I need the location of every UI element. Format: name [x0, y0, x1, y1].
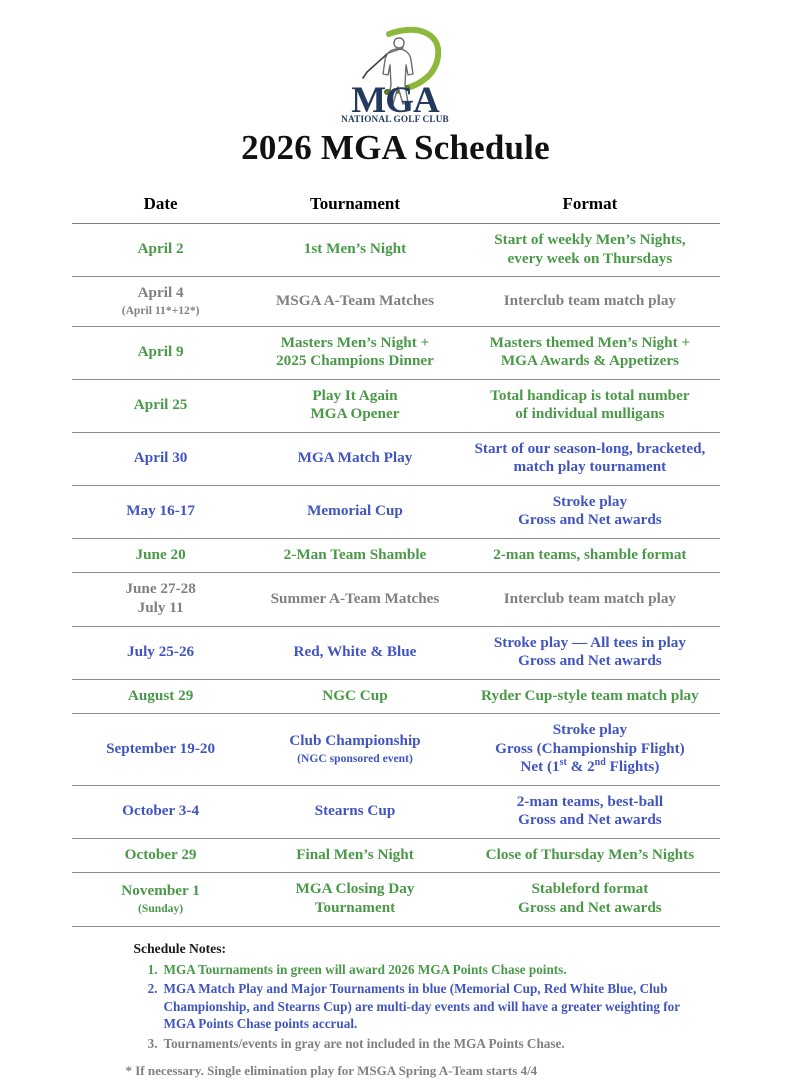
cell-format: Start of weekly Men’s Nights, every week… — [460, 224, 719, 277]
tournament-line-2: Tournament — [255, 899, 456, 918]
format-line-1: Masters themed Men’s Night + — [465, 334, 714, 353]
cell-date: April 25 — [72, 379, 250, 432]
date-text: April 30 — [134, 449, 188, 466]
tournament-text: MSGA A-Team Matches — [276, 292, 434, 309]
cell-format: Masters themed Men’s Night + MGA Awards … — [460, 326, 719, 379]
tournament-text: Final Men’s Night — [296, 846, 414, 863]
schedule-table: Date Tournament Format April 2 1st Men’s… — [72, 194, 720, 927]
table-header-row: Date Tournament Format — [72, 194, 720, 224]
format-line-3-post: Flights) — [606, 758, 660, 775]
ordinal-suffix-second: nd — [595, 757, 606, 768]
list-item: MGA Match Play and Major Tournaments in … — [160, 980, 706, 1033]
cell-format: 2-man teams, best-ball Gross and Net awa… — [460, 785, 719, 838]
cell-tournament: Memorial Cup — [250, 485, 461, 538]
tournament-text: 2-Man Team Shamble — [284, 546, 427, 563]
date-text: August 29 — [128, 687, 193, 704]
format-line-1: Stroke play — [465, 721, 714, 740]
cell-date: October 3-4 — [72, 785, 250, 838]
format-line-1: Stroke play — [465, 493, 714, 512]
table-row: April 30 MGA Match Play Start of our sea… — [72, 432, 720, 485]
cell-format: Stableford format Gross and Net awards — [460, 873, 719, 926]
column-header-date: Date — [72, 194, 250, 224]
date-text: September 19-20 — [106, 740, 215, 757]
tournament-text: 1st Men’s Night — [304, 240, 406, 257]
format-line-2: Gross (Championship Flight) — [465, 740, 714, 759]
tournament-text: NGC Cup — [322, 687, 387, 704]
notes-list: MGA Tournaments in green will award 2026… — [134, 961, 706, 1053]
format-line-2: Gross and Net awards — [465, 811, 714, 830]
schedule-notes-section: Schedule Notes: MGA Tournaments in green… — [86, 941, 706, 1053]
date-text: November 1 — [121, 882, 200, 899]
format-line-1: Interclub team match play — [465, 590, 714, 609]
cell-format: Start of our season-long, bracketed, mat… — [460, 432, 719, 485]
tournament-line-1: Masters Men’s Night + — [255, 334, 456, 353]
format-line-2: Gross and Net awards — [465, 899, 714, 918]
cell-format: Total handicap is total number of indivi… — [460, 379, 719, 432]
table-row: September 19-20 Club Championship (NGC s… — [72, 714, 720, 786]
cell-date: April 4 (April 11*+12*) — [72, 277, 250, 326]
date-text: April 25 — [134, 396, 188, 413]
cell-tournament: Club Championship (NGC sponsored event) — [250, 714, 461, 786]
table-row: July 25-26 Red, White & Blue Stroke play… — [72, 626, 720, 679]
cell-date: June 20 — [72, 538, 250, 573]
cell-format: 2-man teams, shamble format — [460, 538, 719, 573]
tournament-text: Memorial Cup — [307, 502, 403, 519]
cell-tournament: Final Men’s Night — [250, 838, 461, 873]
cell-tournament: NGC Cup — [250, 679, 461, 714]
tournament-line-1: MGA Closing Day — [255, 880, 456, 899]
cell-format: Ryder Cup-style team match play — [460, 679, 719, 714]
cell-date: October 29 — [72, 838, 250, 873]
date-text: April 2 — [138, 240, 184, 257]
date-text: May 16-17 — [126, 502, 195, 519]
table-row: April 2 1st Men’s Night Start of weekly … — [72, 224, 720, 277]
column-header-format: Format — [460, 194, 719, 224]
table-row: April 25 Play It Again MGA Opener Total … — [72, 379, 720, 432]
cell-tournament: 1st Men’s Night — [250, 224, 461, 277]
date-line-1: June 27-28 — [77, 580, 245, 599]
mga-logo: MGA NATIONAL GOLF CLUB — [337, 22, 455, 126]
date-text: June 20 — [135, 546, 185, 563]
tournament-text: MGA Match Play — [298, 449, 413, 466]
table-row: June 20 2-Man Team Shamble 2-man teams, … — [72, 538, 720, 573]
cell-format: Interclub team match play — [460, 573, 719, 626]
cell-tournament: Masters Men’s Night + 2025 Champions Din… — [250, 326, 461, 379]
cell-tournament: Red, White & Blue — [250, 626, 461, 679]
format-line-2: MGA Awards & Appetizers — [465, 352, 714, 371]
tournament-line-2: 2025 Champions Dinner — [255, 352, 456, 371]
format-line-1: Start of our season-long, bracketed, — [465, 440, 714, 459]
list-item: MGA Tournaments in green will award 2026… — [160, 961, 706, 979]
list-item: Tournaments/events in gray are not inclu… — [160, 1035, 706, 1053]
table-row: April 4 (April 11*+12*) MSGA A-Team Matc… — [72, 277, 720, 326]
cell-date: July 25-26 — [72, 626, 250, 679]
cell-date: June 27-28 July 11 — [72, 573, 250, 626]
table-row: October 29 Final Men’s Night Close of Th… — [72, 838, 720, 873]
table-row: August 29 NGC Cup Ryder Cup-style team m… — [72, 679, 720, 714]
cell-date: April 9 — [72, 326, 250, 379]
date-text: April 9 — [138, 343, 184, 360]
format-line-1: Stroke play — All tees in play — [465, 634, 714, 653]
table-row: May 16-17 Memorial Cup Stroke play Gross… — [72, 485, 720, 538]
notes-heading: Schedule Notes: — [134, 941, 706, 957]
format-line-2: of individual mulligans — [465, 405, 714, 424]
cell-format: Stroke play Gross and Net awards — [460, 485, 719, 538]
cell-tournament: 2-Man Team Shamble — [250, 538, 461, 573]
cell-format: Close of Thursday Men’s Nights — [460, 838, 719, 873]
tournament-text: Stearns Cup — [315, 802, 396, 819]
logo-container: MGA NATIONAL GOLF CLUB — [0, 0, 791, 108]
cell-format: Interclub team match play — [460, 277, 719, 326]
cell-tournament: MSGA A-Team Matches — [250, 277, 461, 326]
date-text: October 29 — [125, 846, 197, 863]
cell-date: November 1 (Sunday) — [72, 873, 250, 926]
format-line-1: Interclub team match play — [465, 292, 714, 311]
cell-date: May 16-17 — [72, 485, 250, 538]
table-row: November 1 (Sunday) MGA Closing Day Tour… — [72, 873, 720, 926]
cell-format: Stroke play — All tees in play Gross and… — [460, 626, 719, 679]
format-line-1: Close of Thursday Men’s Nights — [465, 846, 714, 865]
schedule-page: MGA NATIONAL GOLF CLUB 2026 MGA Schedule… — [0, 0, 791, 1024]
table-row: June 27-28 July 11 Summer A-Team Matches… — [72, 573, 720, 626]
format-line-2: Gross and Net awards — [465, 511, 714, 530]
mga-logo-graphic: MGA NATIONAL GOLF CLUB — [337, 22, 455, 126]
tournament-text: Red, White & Blue — [294, 643, 417, 660]
format-line-3-mid: & 2 — [567, 758, 595, 775]
ordinal-suffix-first: st — [560, 757, 567, 768]
tournament-text: Club Championship — [289, 732, 420, 749]
format-line-2: every week on Thursdays — [465, 250, 714, 269]
cell-tournament: Stearns Cup — [250, 785, 461, 838]
format-line-3-pre: Net (1 — [520, 758, 559, 775]
date-line-2: July 11 — [77, 599, 245, 618]
format-line-1: Start of weekly Men’s Nights, — [465, 231, 714, 250]
cell-format: Stroke play Gross (Championship Flight) … — [460, 714, 719, 786]
cell-date: August 29 — [72, 679, 250, 714]
format-line-2: match play tournament — [465, 458, 714, 477]
cell-date: April 30 — [72, 432, 250, 485]
date-text: October 3-4 — [122, 802, 199, 819]
date-text: April 4 — [138, 284, 184, 301]
format-line-1: 2-man teams, shamble format — [465, 546, 714, 565]
page-title: 2026 MGA Schedule — [0, 128, 791, 168]
svg-text:NATIONAL GOLF CLUB: NATIONAL GOLF CLUB — [341, 114, 449, 124]
format-line-1: Total handicap is total number — [465, 387, 714, 406]
format-line-3: Net (1st & 2nd Flights) — [465, 758, 714, 777]
cell-tournament: MGA Closing Day Tournament — [250, 873, 461, 926]
cell-tournament: Summer A-Team Matches — [250, 573, 461, 626]
format-line-1: 2-man teams, best-ball — [465, 793, 714, 812]
format-line-1: Ryder Cup-style team match play — [465, 687, 714, 706]
date-subtext: (Sunday) — [77, 902, 245, 916]
tournament-line-2: MGA Opener — [255, 405, 456, 424]
table-row: April 9 Masters Men’s Night + 2025 Champ… — [72, 326, 720, 379]
footnote-text: * If necessary. Single elimination play … — [86, 1063, 706, 1080]
cell-tournament: Play It Again MGA Opener — [250, 379, 461, 432]
format-line-2: Gross and Net awards — [465, 652, 714, 671]
schedule-table-container: Date Tournament Format April 2 1st Men’s… — [72, 194, 720, 927]
column-header-tournament: Tournament — [250, 194, 461, 224]
date-subtext: (April 11*+12*) — [77, 304, 245, 318]
date-text: July 25-26 — [127, 643, 194, 660]
cell-tournament: MGA Match Play — [250, 432, 461, 485]
table-row: October 3-4 Stearns Cup 2-man teams, bes… — [72, 785, 720, 838]
tournament-text: Summer A-Team Matches — [271, 590, 440, 607]
tournament-subtext: (NGC sponsored event) — [255, 752, 456, 766]
cell-date: April 2 — [72, 224, 250, 277]
tournament-line-1: Play It Again — [255, 387, 456, 406]
format-line-1: Stableford format — [465, 880, 714, 899]
cell-date: September 19-20 — [72, 714, 250, 786]
